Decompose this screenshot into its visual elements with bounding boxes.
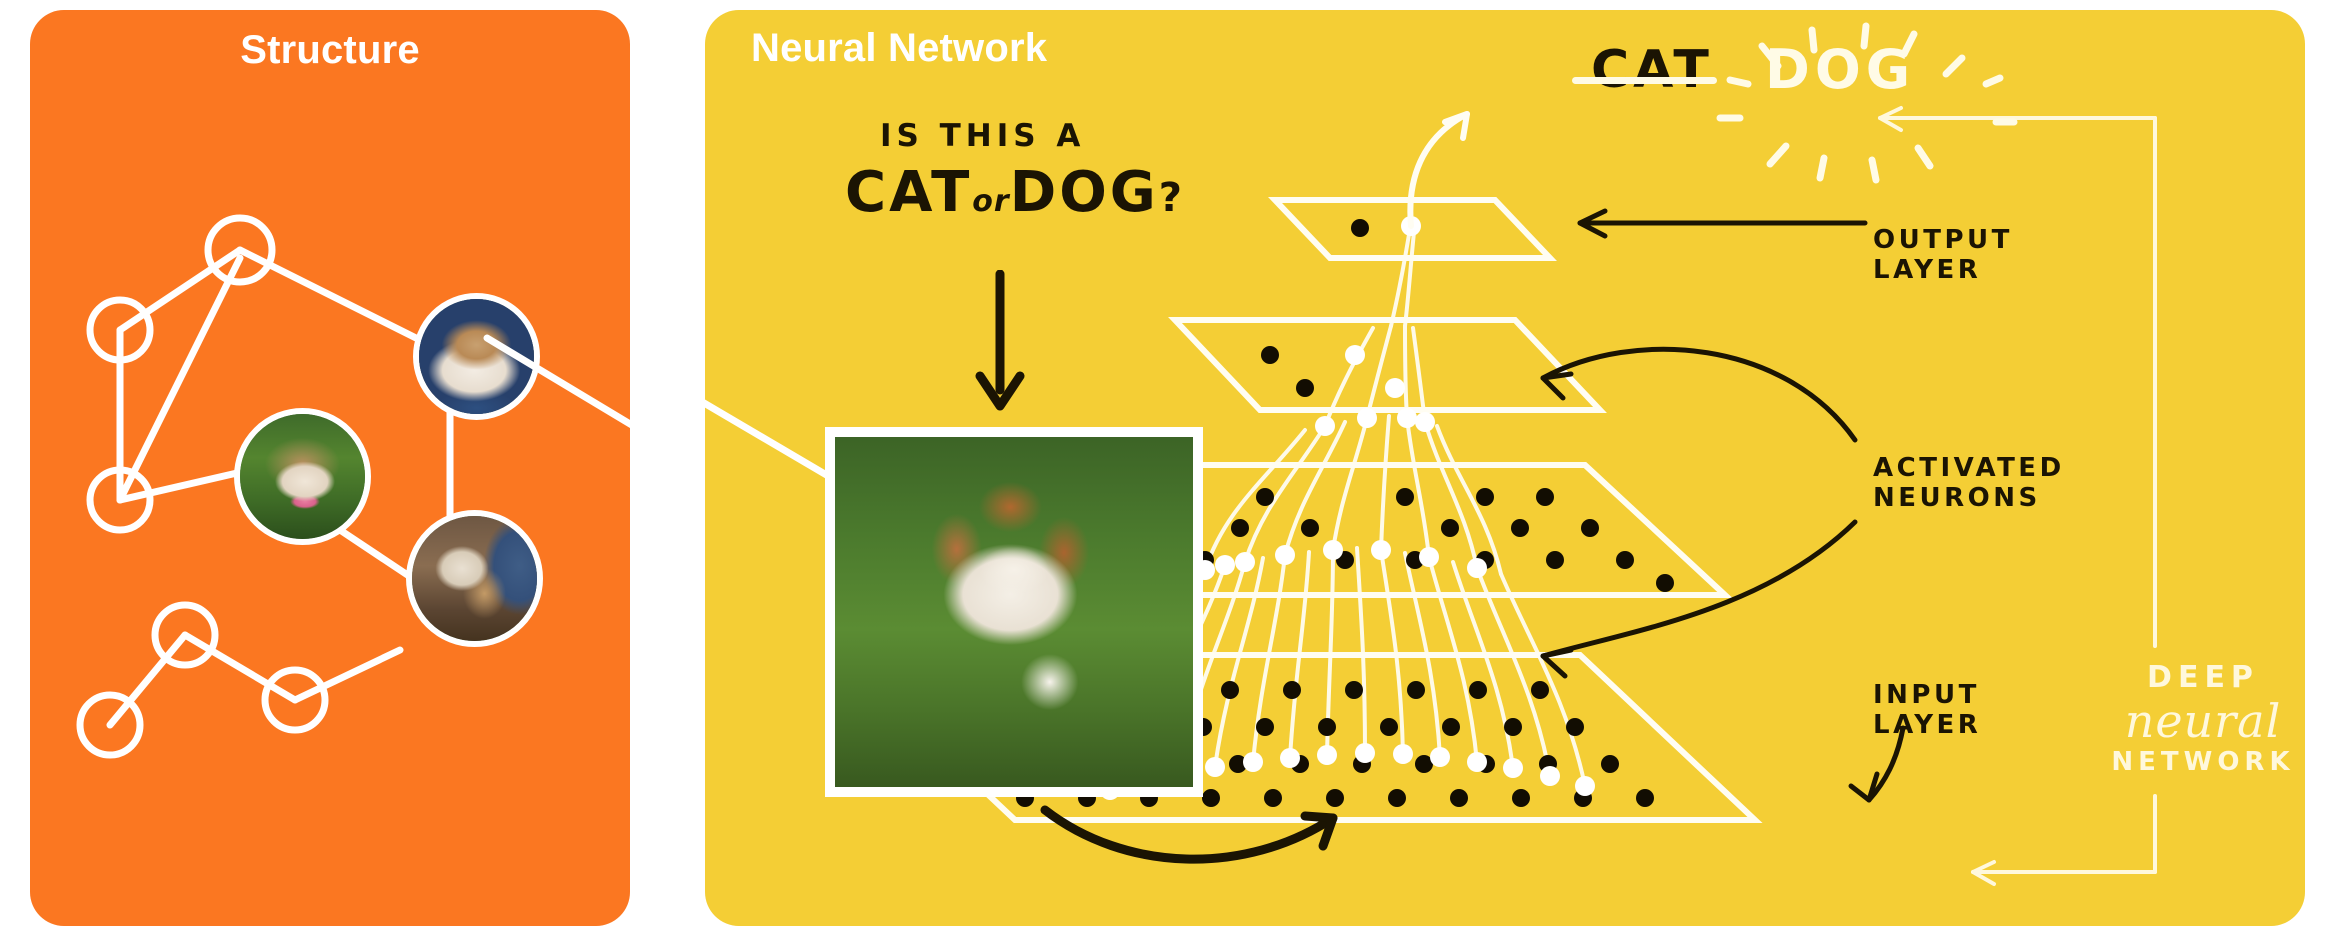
- question-or-word: or: [972, 184, 1009, 219]
- dog-sparkles: [1700, 18, 2060, 188]
- label-output-layer-line1: OUTPUT: [1873, 225, 2013, 255]
- question-down-arrow: [960, 270, 1040, 420]
- neurons-hidden-layer-2: [1261, 345, 1435, 436]
- infographic-canvas: Structure: [0, 0, 2330, 936]
- output-to-dog-arrow: [1410, 114, 1467, 226]
- question-cat-or-dog: CATorDOG?: [845, 160, 1185, 225]
- question-cat-word: CAT: [845, 160, 972, 225]
- label-activated-neurons-line2: NEURONS: [1873, 483, 2065, 513]
- verdict-cat: CAT: [1591, 40, 1713, 100]
- structure-photo-node-1[interactable]: [413, 293, 540, 420]
- dnn-line-neural: neural: [2098, 697, 2305, 745]
- input-image-card[interactable]: [825, 427, 1203, 797]
- question-dog-word: DOG: [1010, 160, 1159, 225]
- structure-photo-node-2[interactable]: [234, 408, 371, 545]
- bulldog-photo-1: [419, 299, 534, 414]
- structure-photo-node-3[interactable]: [406, 510, 543, 647]
- bulldog-puppy-photo: [835, 437, 1193, 787]
- label-pointer-arrows: [1543, 211, 1865, 676]
- label-activated-neurons: ACTIVATED NEURONS: [1873, 453, 2065, 513]
- label-activated-neurons-line1: ACTIVATED: [1873, 453, 2065, 483]
- label-output-layer: OUTPUT LAYER: [1873, 225, 2013, 285]
- structure-panel: Structure: [30, 10, 630, 926]
- label-input-layer-line2: LAYER: [1873, 710, 1981, 740]
- deep-neural-network-caption: DEEP neural NETWORK: [2098, 660, 2305, 777]
- bracket-bottom: [1973, 796, 2155, 884]
- dnn-line-deep: DEEP: [2098, 660, 2305, 695]
- bracket-top: [1880, 108, 2155, 646]
- label-output-layer-line2: LAYER: [1873, 255, 2013, 285]
- label-input-layer: INPUT LAYER: [1873, 680, 1981, 740]
- bulldog-photo-3: [412, 516, 537, 641]
- question-line-1: IS THIS A: [880, 118, 1085, 154]
- dnn-line-network: NETWORK: [2098, 747, 2305, 777]
- label-input-layer-line1: INPUT: [1873, 680, 1981, 710]
- cat-strikethrough: [1572, 77, 1717, 84]
- question-mark: ?: [1159, 175, 1185, 221]
- bulldog-photo-2: [240, 414, 365, 539]
